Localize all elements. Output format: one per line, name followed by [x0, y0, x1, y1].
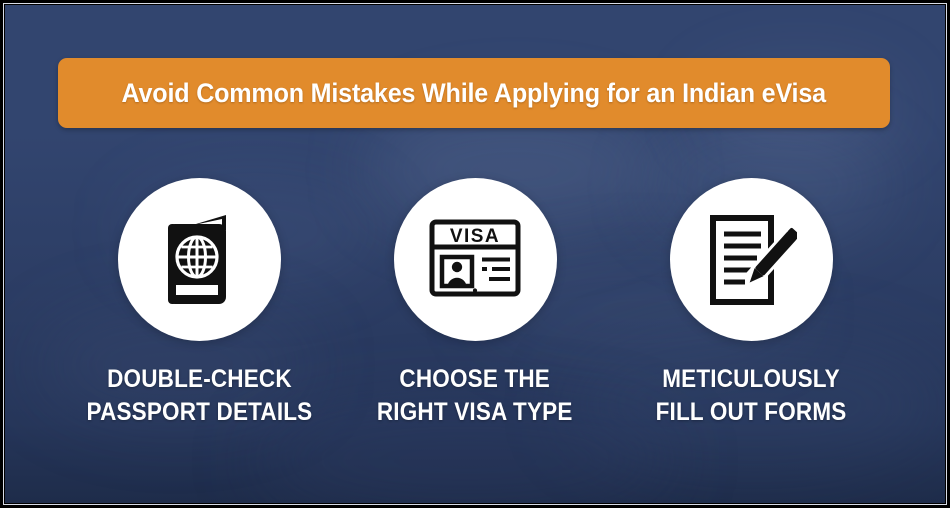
infographic-slide: Avoid Common Mistakes While Applying for…: [0, 0, 950, 508]
tip-caption: METICULOUSLY FILL OUT FORMS: [656, 363, 847, 430]
tip-caption-line-1: METICULOUSLY: [656, 363, 847, 396]
tip-caption-line-1: DOUBLE-CHECK: [86, 363, 312, 396]
icon-circle: [670, 178, 833, 341]
tip-caption: CHOOSE THE RIGHT VISA TYPE: [377, 363, 573, 430]
document-pencil-icon: [705, 212, 797, 308]
tip-caption-line-2: FILL OUT FORMS: [656, 396, 847, 429]
tip-item-passport: DOUBLE-CHECK PASSPORT DETAILS: [61, 178, 337, 430]
tip-caption-line-1: CHOOSE THE: [377, 363, 573, 396]
tip-caption-line-2: RIGHT VISA TYPE: [377, 396, 573, 429]
tip-item-visa-type: VISA: [337, 178, 613, 430]
tip-caption-line-2: PASSPORT DETAILS: [86, 396, 312, 429]
icon-circle: VISA: [394, 178, 557, 341]
tip-item-fill-forms: METICULOUSLY FILL OUT FORMS: [613, 178, 889, 430]
visa-card-label: VISA: [450, 226, 500, 247]
page-title: Avoid Common Mistakes While Applying for…: [122, 78, 826, 109]
tip-caption: DOUBLE-CHECK PASSPORT DETAILS: [86, 363, 312, 430]
icon-circle: [118, 178, 281, 341]
slide-canvas: Avoid Common Mistakes While Applying for…: [5, 5, 945, 503]
title-banner: Avoid Common Mistakes While Applying for…: [58, 58, 890, 128]
visa-card-icon: VISA: [427, 217, 523, 303]
tips-row: DOUBLE-CHECK PASSPORT DETAILS VISA: [5, 178, 945, 430]
passport-globe-icon: [156, 210, 242, 310]
